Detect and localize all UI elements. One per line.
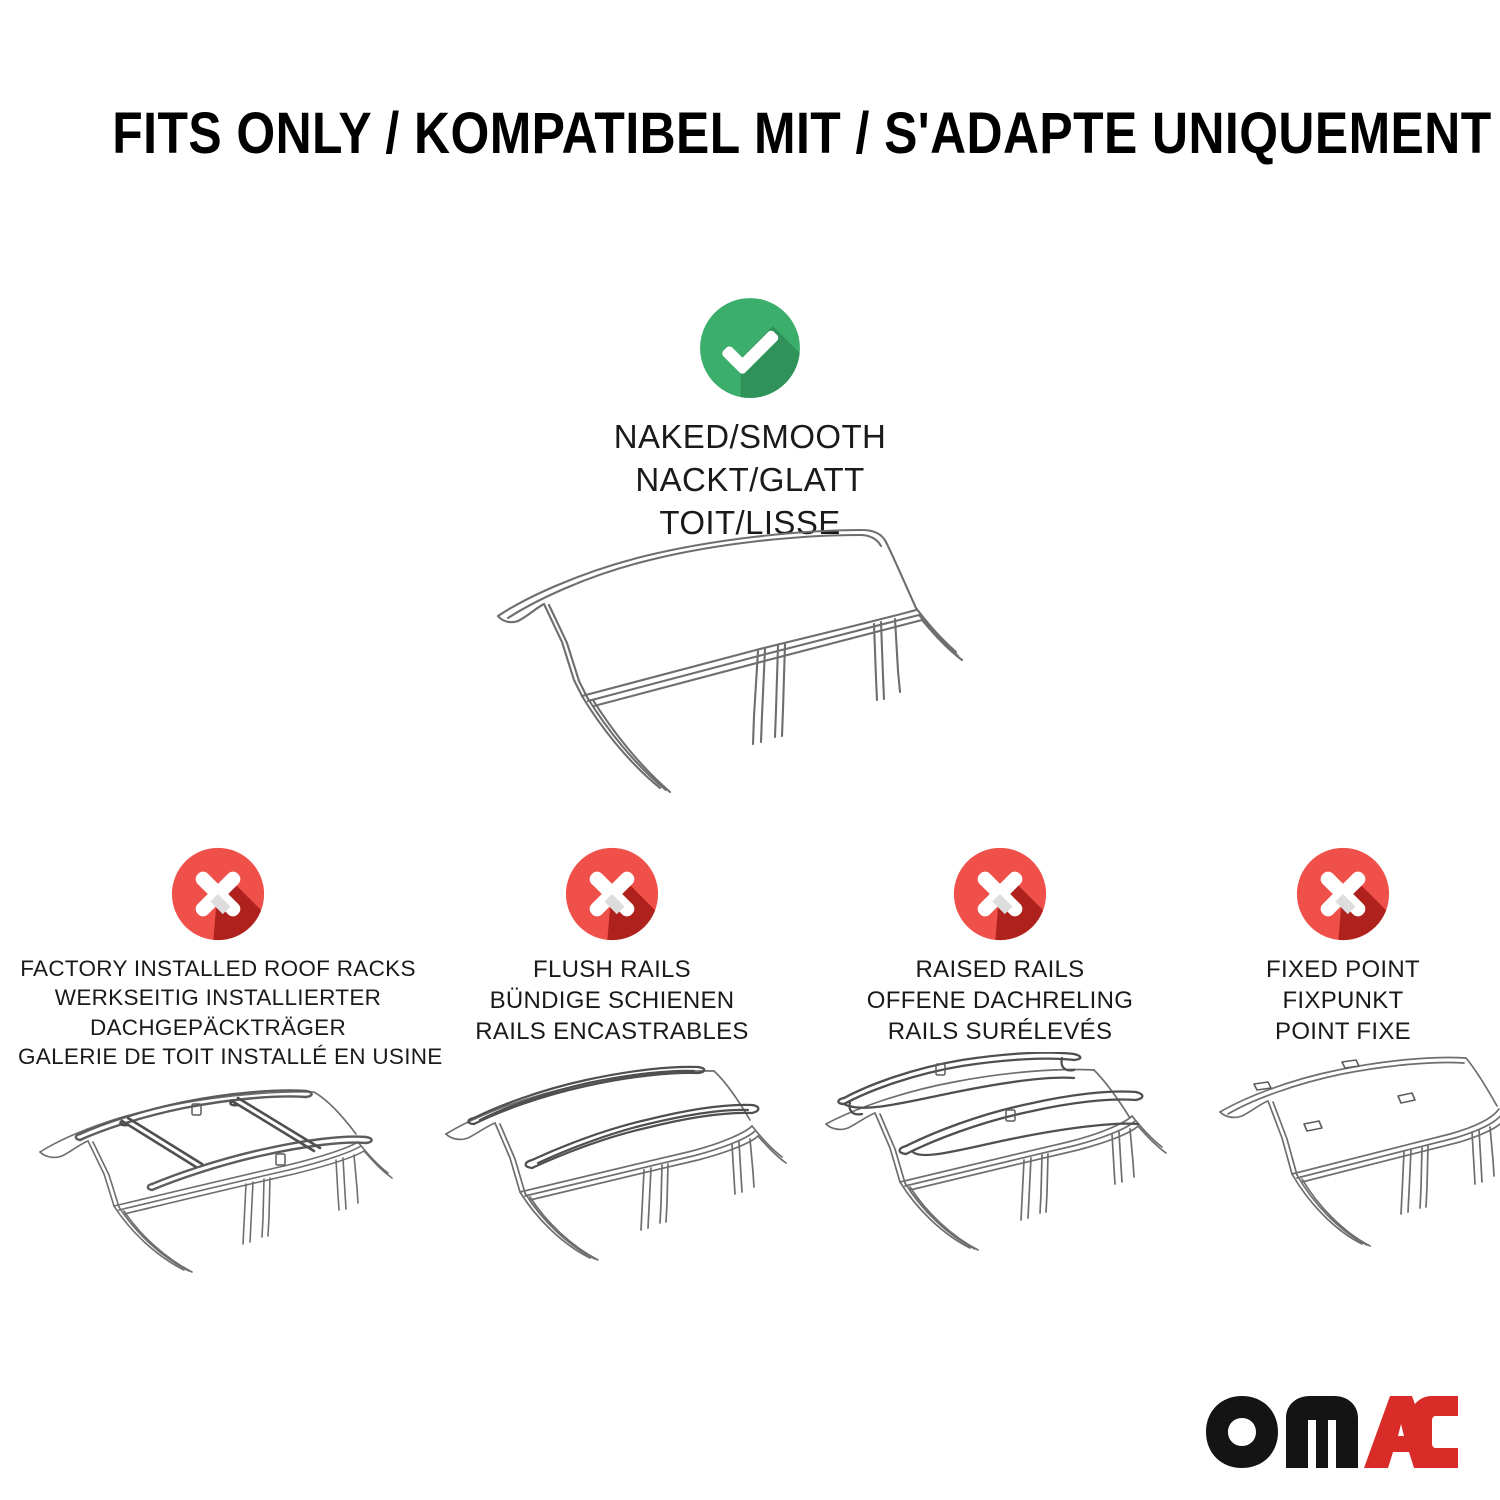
incompatible-item-fixed-point: FIXED POINT FIXPUNKT POINT FIXE	[1208, 846, 1478, 1048]
incompatible-label-fixed-point: FIXED POINT FIXPUNKT POINT FIXE	[1208, 954, 1478, 1048]
red-cross-icon	[1295, 846, 1391, 942]
incompatible-item-factory-roof-racks: FACTORY INSTALLED ROOF RACKS WERKSEITIG …	[18, 846, 418, 1071]
red-cross-icon	[952, 846, 1048, 942]
incompatible-item-raised-rails: RAISED RAILS OFFENE DACHRELING RAILS SUR…	[810, 846, 1190, 1048]
page-title: FITS ONLY / KOMPATIBEL MIT / S'ADAPTE UN…	[112, 104, 1491, 165]
car-roof-naked-smooth-illustration	[470, 520, 1030, 800]
label-line-1: FIXED POINT	[1208, 954, 1478, 985]
car-roof-raised-rails-illustration	[810, 1052, 1190, 1264]
label-line-3: RAILS SURÉLEVÉS	[810, 1016, 1190, 1047]
label-line-2: OFFENE DACHRELING	[810, 985, 1190, 1016]
label-line-1: FACTORY INSTALLED ROOF RACKS	[18, 954, 418, 983]
compatible-label-line-2: NACKT/GLATT	[450, 459, 1050, 502]
incompatible-item-flush-rails: FLUSH RAILS BÜNDIGE SCHIENEN RAILS ENCAS…	[432, 846, 792, 1048]
red-cross-icon	[564, 846, 660, 942]
label-line-3: POINT FIXE	[1208, 1016, 1478, 1047]
incompatible-label-factory-roof-racks: FACTORY INSTALLED ROOF RACKS WERKSEITIG …	[18, 954, 418, 1071]
label-line-2: WERKSEITIG INSTALLIERTER	[18, 983, 418, 1012]
green-check-icon	[698, 296, 802, 400]
car-roof-fixed-point-illustration	[1208, 1046, 1500, 1260]
red-cross-icon	[170, 846, 266, 942]
incompatible-section: FACTORY INSTALLED ROOF RACKS WERKSEITIG …	[0, 846, 1500, 1326]
omac-logo	[1204, 1394, 1460, 1472]
compatible-section: NAKED/SMOOTH NACKT/GLATT TOIT/LISSE	[450, 296, 1050, 545]
car-roof-flush-rails-illustration	[432, 1058, 804, 1268]
label-line-2: BÜNDIGE SCHIENEN	[432, 985, 792, 1016]
omac-logo-mark	[1204, 1394, 1460, 1472]
label-line-1: FLUSH RAILS	[432, 954, 792, 985]
label-line-3: DACHGEPÄCKTRÄGER	[18, 1013, 418, 1042]
page-title-bar: FITS ONLY / KOMPATIBEL MIT / S'ADAPTE UN…	[0, 104, 1500, 165]
car-roof-factory-roof-racks-illustration	[18, 1064, 418, 1274]
compatible-label-line-1: NAKED/SMOOTH	[450, 416, 1050, 459]
label-line-1: RAISED RAILS	[810, 954, 1190, 985]
incompatible-label-raised-rails: RAISED RAILS OFFENE DACHRELING RAILS SUR…	[810, 954, 1190, 1048]
label-line-2: FIXPUNKT	[1208, 985, 1478, 1016]
label-line-3: RAILS ENCASTRABLES	[432, 1016, 792, 1047]
incompatible-label-flush-rails: FLUSH RAILS BÜNDIGE SCHIENEN RAILS ENCAS…	[432, 954, 792, 1048]
